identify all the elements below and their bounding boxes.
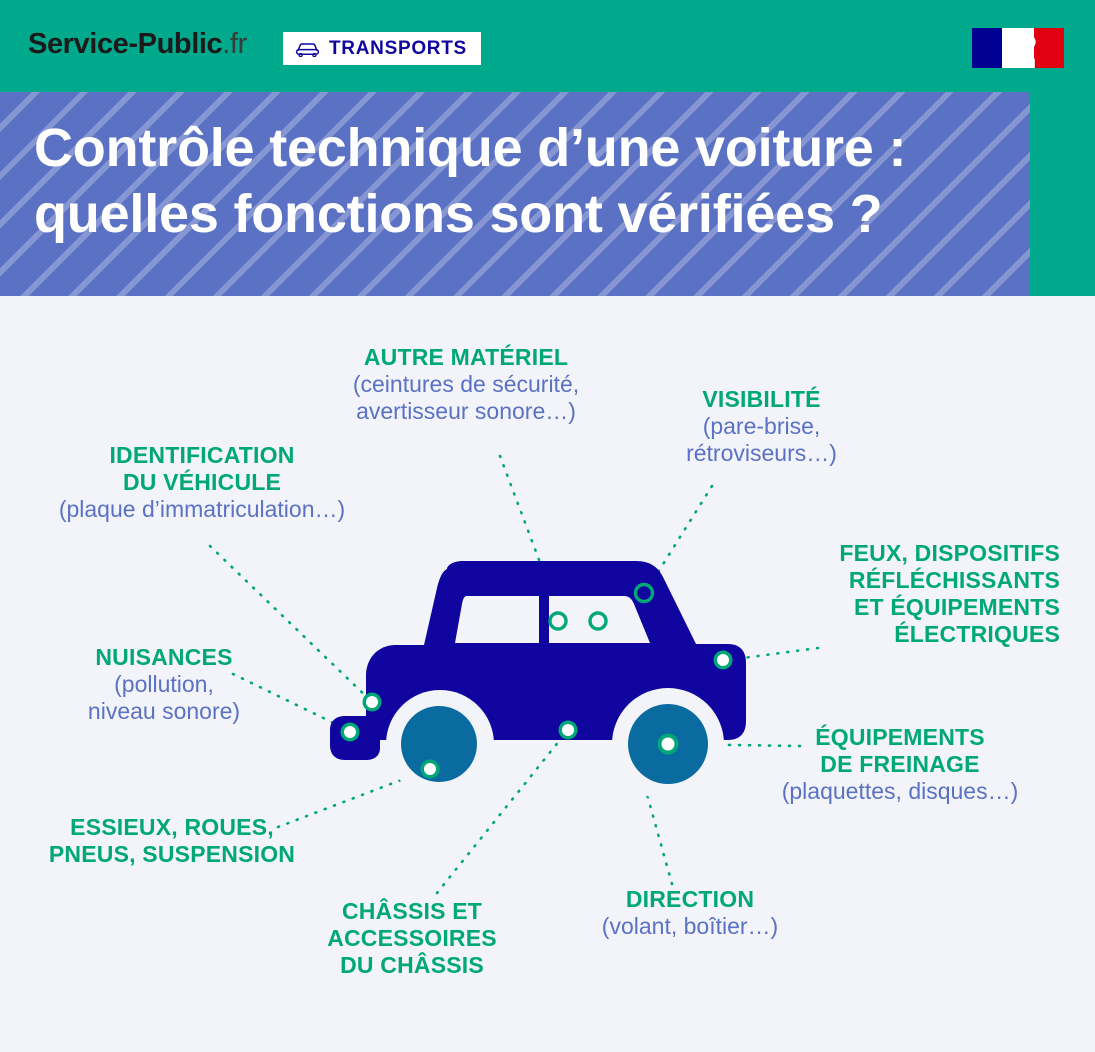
flag-stripe-white	[1002, 28, 1033, 68]
french-republic-marianne-emblem	[972, 28, 1064, 68]
label-feux-dispositifs: FEUX, DISPOSITIFS RÉFLÉCHISSANTS ET ÉQUI…	[740, 540, 1060, 648]
label-visibilite-sub-1: (pare-brise,	[654, 413, 869, 440]
category-badge-label: TRANSPORTS	[329, 38, 467, 60]
diagram-area: AUTRE MATÉRIEL (ceintures de sécurité, a…	[0, 296, 1095, 1052]
title-banner: Contrôle technique d’une voiture : quell…	[0, 92, 1030, 296]
marker-freinage	[662, 738, 675, 751]
brand-name: Service-Public	[28, 28, 222, 60]
marker-chassis	[562, 724, 574, 736]
marker-essieux	[424, 763, 436, 775]
label-visibilite-title: VISIBILITÉ	[654, 386, 869, 413]
label-nuisances-sub-2: niveau sonore)	[48, 698, 280, 725]
label-feux-title-3: ET ÉQUIPEMENTS	[740, 594, 1060, 621]
label-freinage-title-1: ÉQUIPEMENTS	[762, 724, 1038, 751]
site-brand-logo[interactable]: Service-Public.fr	[28, 28, 247, 61]
car-rear-window	[455, 596, 539, 643]
category-badge-transports[interactable]: TRANSPORTS	[283, 32, 481, 65]
label-autre-materiel: AUTRE MATÉRIEL (ceintures de sécurité, a…	[330, 344, 602, 425]
label-chassis-title-3: DU CHÂSSIS	[296, 952, 528, 979]
label-identification-title-2: DU VÉHICULE	[22, 469, 382, 496]
label-chassis: CHÂSSIS ET ACCESSOIRES DU CHÂSSIS	[296, 898, 528, 979]
label-direction-sub-1: (volant, boîtier…)	[566, 913, 814, 940]
label-feux-title-1: FEUX, DISPOSITIFS	[740, 540, 1060, 567]
label-visibilite: VISIBILITÉ (pare-brise, rétroviseurs…)	[654, 386, 869, 467]
label-nuisances-sub-1: (pollution,	[48, 671, 280, 698]
infographic-page: Service-Public.fr TRANSPORTS Contrôle te…	[0, 0, 1095, 1052]
label-chassis-title-2: ACCESSOIRES	[296, 925, 528, 952]
label-autre-materiel-sub-2: avertisseur sonore…)	[330, 398, 602, 425]
label-essieux-roues: ESSIEUX, ROUES, PNEUS, SUSPENSION	[22, 814, 322, 868]
car-illustration	[330, 561, 746, 800]
label-feux-title-2: RÉFLÉCHISSANTS	[740, 567, 1060, 594]
label-feux-title-4: ÉLECTRIQUES	[740, 621, 1060, 648]
label-chassis-title-1: CHÂSSIS ET	[296, 898, 528, 925]
label-direction-title: DIRECTION	[566, 886, 814, 913]
label-essieux-title-2: PNEUS, SUSPENSION	[22, 841, 322, 868]
brand-suffix: .fr	[222, 28, 247, 60]
label-nuisances-title: NUISANCES	[48, 644, 280, 671]
label-visibilite-sub-2: rétroviseurs…)	[654, 440, 869, 467]
marker-feux	[717, 654, 729, 666]
label-autre-materiel-title: AUTRE MATÉRIEL	[330, 344, 602, 371]
page-title: Contrôle technique d’une voiture : quell…	[34, 116, 1014, 248]
label-freinage-sub-1: (plaquettes, disques…)	[762, 778, 1038, 805]
car-front-icon	[295, 41, 320, 57]
label-identification-du-vehicule: IDENTIFICATION DU VÉHICULE (plaque d’imm…	[22, 442, 382, 523]
page-title-line-1: Contrôle technique d’une voiture :	[34, 116, 1014, 182]
marker-nuisances	[344, 726, 356, 738]
label-nuisances: NUISANCES (pollution, niveau sonore)	[48, 644, 280, 725]
label-autre-materiel-sub-1: (ceintures de sécurité,	[330, 371, 602, 398]
label-essieux-title-1: ESSIEUX, ROUES,	[22, 814, 322, 841]
label-identification-title-1: IDENTIFICATION	[22, 442, 382, 469]
label-identification-sub-1: (plaque d’immatriculation…)	[22, 496, 382, 523]
label-equipements-de-freinage: ÉQUIPEMENTS DE FREINAGE (plaquettes, dis…	[762, 724, 1038, 805]
page-title-line-2: quelles fonctions sont vérifiées ?	[34, 182, 1014, 248]
label-freinage-title-2: DE FREINAGE	[762, 751, 1038, 778]
marker-identification	[366, 696, 378, 708]
label-direction: DIRECTION (volant, boîtier…)	[566, 886, 814, 940]
